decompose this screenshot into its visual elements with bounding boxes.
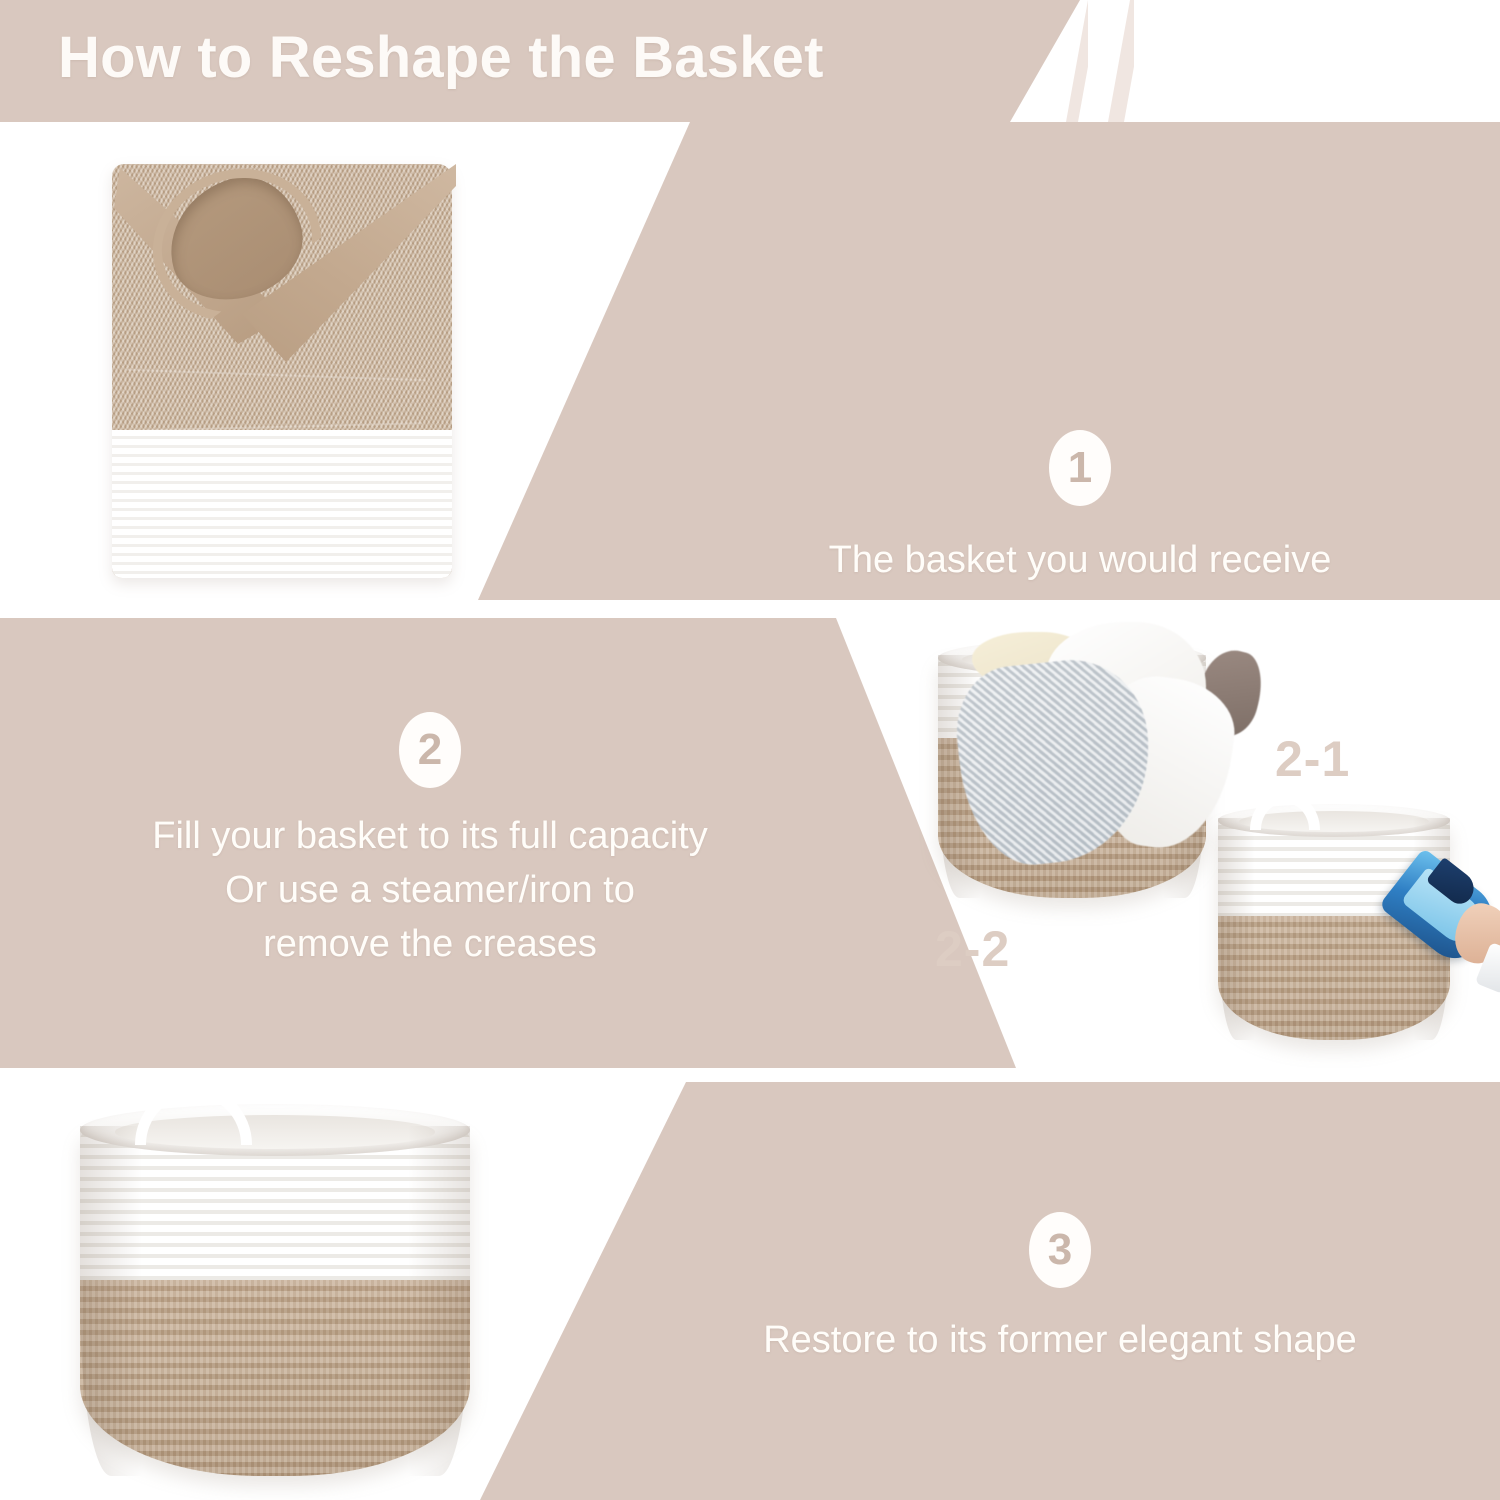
basket-handle — [1250, 792, 1320, 830]
laundry-pile-illustration — [950, 618, 1250, 858]
step-1-content: 1 The basket you would receive — [700, 430, 1460, 588]
step-2-caption: Fill your basket to its full capacity Or… — [152, 810, 707, 972]
folded-basket-illustration — [112, 164, 452, 578]
step-2-number-badge: 2 — [399, 712, 461, 788]
sublabel-2-1: 2-1 — [1275, 730, 1350, 788]
section-divider-1 — [0, 600, 1500, 618]
header-diagonal-stripe-2 — [1108, 0, 1134, 122]
basket-tan-section — [80, 1280, 470, 1476]
step-1-caption: The basket you would receive — [829, 534, 1332, 588]
step-3-caption: Restore to its former elegant shape — [763, 1314, 1357, 1368]
header-banner: How to Reshape the Basket — [0, 0, 1500, 122]
basket-handle — [135, 1085, 252, 1145]
step-1-number-badge: 1 — [1049, 430, 1111, 506]
restored-basket-illustration — [80, 1104, 470, 1476]
instruction-graphic: How to Reshape the Basket 1 The basket y… — [0, 0, 1500, 1500]
sublabel-2-2: 2-2 — [935, 920, 1010, 978]
basket-walls — [80, 1126, 470, 1476]
steam-iron-illustration — [1386, 862, 1500, 990]
folded-basket-white-band — [112, 430, 452, 578]
page-title: How to Reshape the Basket — [58, 24, 824, 91]
crease-line — [126, 369, 426, 381]
section-divider-2 — [0, 1068, 1500, 1082]
step-3-content: 3 Restore to its former elegant shape — [660, 1212, 1460, 1368]
step-2-content: 2 Fill your basket to its full capacity … — [40, 712, 820, 972]
step-3-number-badge: 3 — [1029, 1212, 1091, 1288]
